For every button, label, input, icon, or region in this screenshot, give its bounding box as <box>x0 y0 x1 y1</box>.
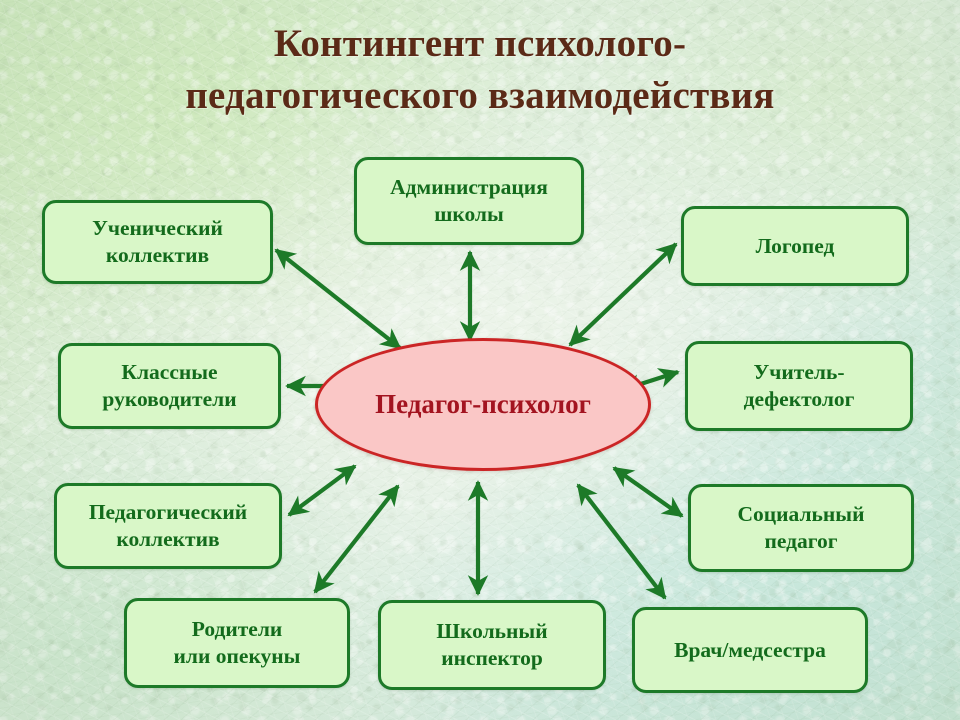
node-administratsiya-shkoly[interactable]: Администрация школы <box>354 157 584 245</box>
node-roditeli-ili-opekuny[interactable]: Родители или опекуны <box>124 598 350 688</box>
node-label: Социальный педагог <box>738 501 865 555</box>
node-uchenichesky-kollektiv[interactable]: Ученический коллектив <box>42 200 273 284</box>
center-node-label: Педагог-психолог <box>375 389 591 420</box>
connector-pedagogichesky-kollektiv <box>289 466 355 515</box>
node-uchitel-defektolog[interactable]: Учитель- дефектолог <box>685 341 913 431</box>
node-label: Родители или опекуны <box>174 616 301 670</box>
node-sotsialny-pedagog[interactable]: Социальный педагог <box>688 484 914 572</box>
node-label: Классные руководители <box>102 359 236 413</box>
node-pedagogichesky-kollektiv[interactable]: Педагогический коллектив <box>54 483 282 569</box>
node-vrach-medsestra[interactable]: Врач/медсестра <box>632 607 868 693</box>
connector-sotsialny-pedagog <box>614 468 682 516</box>
node-label: Учитель- дефектолог <box>744 359 855 413</box>
node-label: Школьный инспектор <box>436 618 547 672</box>
slide-canvas: Контингент психолого- педагогического вз… <box>0 0 960 720</box>
node-label: Врач/медсестра <box>674 637 826 664</box>
node-label: Логопед <box>756 233 835 260</box>
connector-vrach-medsestra <box>578 485 665 598</box>
node-label: Педагогический коллектив <box>89 499 247 553</box>
node-klassnye-rukovoditeli[interactable]: Классные руководители <box>58 343 281 429</box>
node-logoped[interactable]: Логопед <box>681 206 909 286</box>
node-label: Администрация школы <box>390 174 548 228</box>
connector-uchenichesky-kollektiv <box>276 250 400 348</box>
node-label: Ученический коллектив <box>92 215 223 269</box>
connector-logoped <box>570 244 676 345</box>
connector-roditeli-ili-opekuny <box>315 486 398 592</box>
center-node-pedagog-psiholog[interactable]: Педагог-психолог <box>315 338 651 471</box>
node-shkolny-inspektor[interactable]: Школьный инспектор <box>378 600 606 690</box>
